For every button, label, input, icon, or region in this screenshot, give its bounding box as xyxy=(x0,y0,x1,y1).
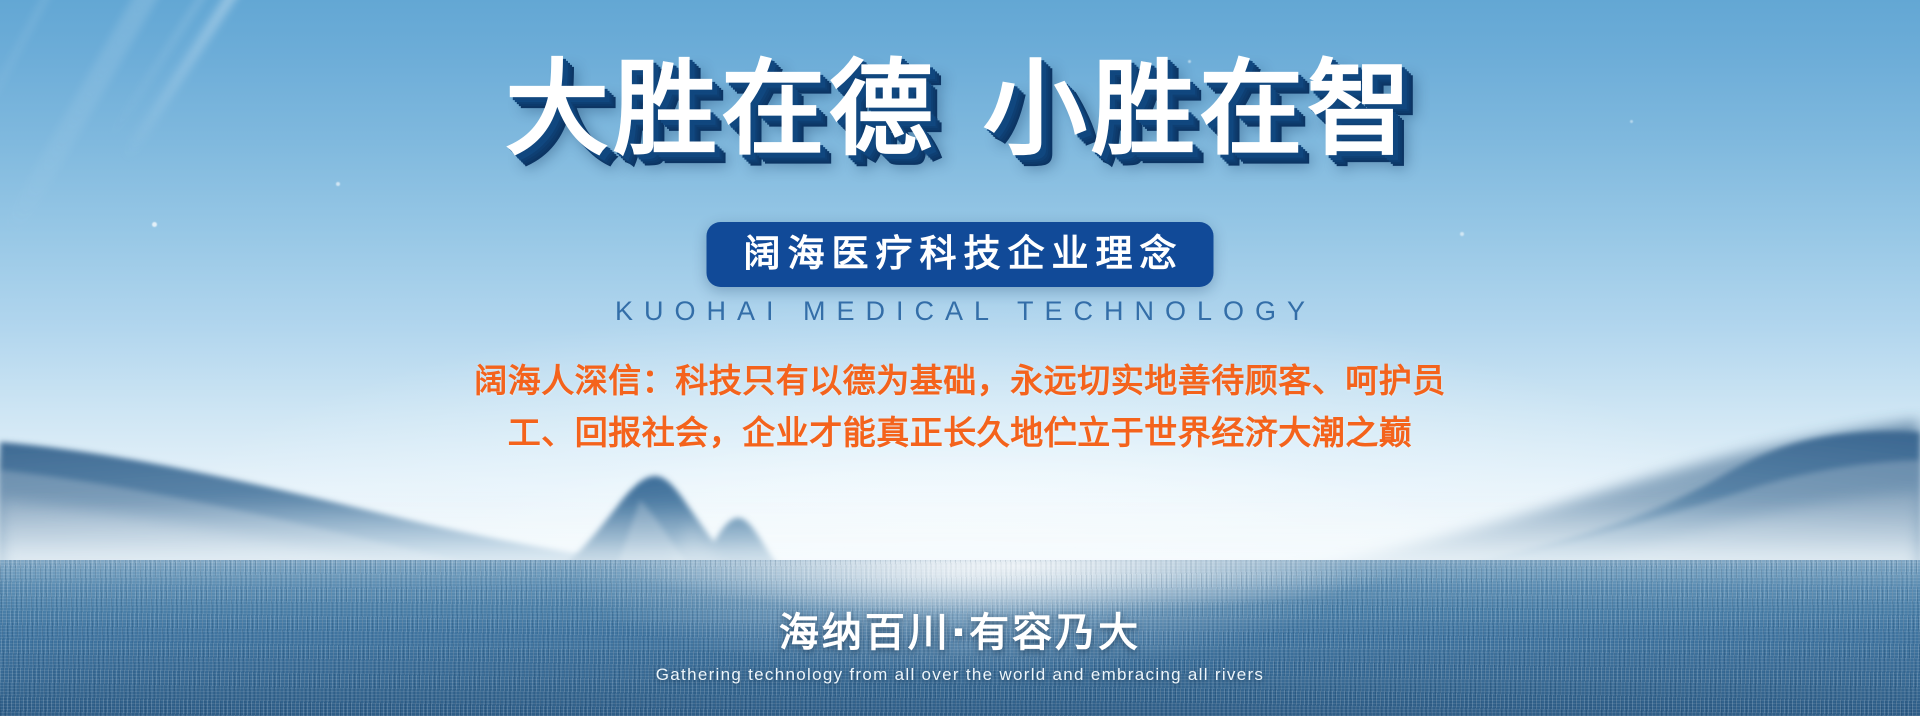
philosophy-statement-line-1: 阔海人深信：科技只有以德为基础，永远切实地善待顾客、呵护员 xyxy=(0,355,1920,407)
page-title: 大胜在德小胜在智 xyxy=(0,48,1920,171)
philosophy-statement: 阔海人深信：科技只有以德为基础，永远切实地善待顾客、呵护员 工、回报社会，企业才… xyxy=(0,355,1920,459)
headline-part-right: 小胜在智 xyxy=(983,48,1415,170)
company-philosophy-banner: 大胜在德小胜在智 阔海医疗科技企业理念 KUOHAI MEDICAL TECHN… xyxy=(0,0,1920,716)
tagline-chinese: 海纳百川·有容乃大 xyxy=(0,610,1920,656)
tagline-english: Gathering technology from all over the w… xyxy=(0,665,1920,685)
bottom-tagline: 海纳百川·有容乃大 Gathering technology from all … xyxy=(0,610,1920,685)
philosophy-statement-line-2: 工、回报社会，企业才能真正长久地伫立于世界经济大潮之巅 xyxy=(0,407,1920,459)
philosophy-badge: 阔海医疗科技企业理念 xyxy=(707,222,1214,287)
banner-content: 大胜在德小胜在智 阔海医疗科技企业理念 KUOHAI MEDICAL TECHN… xyxy=(0,0,1920,716)
headline-part-left: 大胜在德 xyxy=(505,48,937,170)
company-name-english: KUOHAI MEDICAL TECHNOLOGY xyxy=(0,296,1920,327)
philosophy-badge-label: 阔海医疗科技企业理念 xyxy=(737,235,1184,272)
